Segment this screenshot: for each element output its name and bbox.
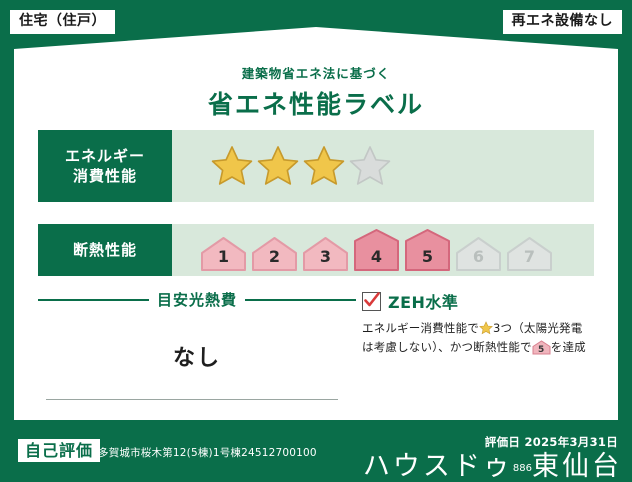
star-icon	[479, 321, 493, 335]
self-evaluation-badge: 自己評価	[18, 439, 100, 462]
watermark-tail: 東仙台	[532, 451, 622, 482]
utility-cost-divider	[46, 399, 338, 400]
zeh-block: ZEH水準 エネルギー消費性能で 3つ（太陽光発電 は考慮しない）、かつ断熱性能…	[356, 289, 594, 407]
insulation-label-text: 断熱性能	[73, 240, 137, 260]
insulation-performance-row: 断熱性能 1234567	[38, 224, 594, 276]
utility-cost-heading: 目安光熱費	[38, 289, 356, 310]
zeh-desc-part2: は考慮しない）、かつ断熱性能で	[362, 340, 532, 354]
star-rating	[210, 144, 392, 188]
insulation-level-7: 7	[506, 236, 553, 272]
insulation-level-number: 3	[302, 247, 349, 266]
insulation-level-5: 5	[404, 228, 451, 272]
star-filled-icon	[210, 144, 254, 188]
insulation-level-number: 6	[455, 247, 502, 266]
label-title-block: 建築物省エネ法に基づく 省エネ性能ラベル	[14, 63, 618, 121]
lower-section: 目安光熱費 なし ZEH水準	[38, 289, 594, 407]
insulation-level-6: 6	[455, 236, 502, 272]
zeh-desc-stars: 3つ（太陽光発電	[493, 321, 582, 335]
utility-cost-value: なし	[38, 340, 356, 372]
label-card: 建築物省エネ法に基づく 省エネ性能ラベル エネルギー 消費性能 断熱性能	[14, 27, 618, 420]
energy-label-root: 住宅（住戸） 再エネ設備なし 建築物省エネ法に基づく 省エネ性能ラベル エネルギ…	[0, 0, 632, 482]
tag-building-type: 住宅（住戸）	[10, 10, 115, 34]
label-subtitle: 建築物省エネ法に基づく	[14, 63, 618, 82]
zeh-description: エネルギー消費性能で 3つ（太陽光発電 は考慮しない）、かつ断熱性能で 5 を達…	[362, 319, 594, 357]
heading-rule-left	[38, 299, 149, 301]
insulation-level-number: 5	[404, 247, 451, 266]
property-id-text: 多賀城市桜木第12(5棟)1号棟24512700100	[98, 445, 317, 460]
energy-performance-row: エネルギー 消費性能	[38, 130, 594, 202]
watermark-small: 886	[513, 463, 532, 474]
zeh-desc-part1: エネルギー消費性能で	[362, 321, 479, 335]
evaluation-date: 評価日 2025年3月31日	[485, 434, 618, 450]
insulation-performance-value: 1234567	[172, 224, 594, 276]
watermark-main: ハウスドゥ	[363, 451, 513, 482]
energy-performance-value	[172, 130, 594, 202]
star-filled-icon	[302, 144, 346, 188]
heading-rule-right	[245, 299, 356, 301]
energy-performance-label: エネルギー 消費性能	[38, 130, 172, 202]
star-empty-icon	[348, 144, 392, 188]
insulation-scale: 1234567	[200, 228, 553, 272]
insulation-level-1: 1	[200, 236, 247, 272]
insulation-level-3: 3	[302, 236, 349, 272]
zeh-checkbox[interactable]	[362, 292, 381, 311]
energy-label-line2: 消費性能	[73, 166, 137, 186]
watermark-logo: ハウスドゥ886東仙台	[363, 453, 622, 480]
zeh-desc-part3: を達成	[551, 340, 586, 354]
insulation-performance-label: 断熱性能	[38, 224, 172, 276]
zeh-title: ZEH水準	[388, 289, 458, 313]
check-icon	[362, 290, 382, 310]
insulation-badge-icon: 5	[532, 340, 551, 355]
page-title: 省エネ性能ラベル	[14, 85, 618, 121]
insulation-level-4: 4	[353, 228, 400, 272]
insulation-level-number: 2	[251, 247, 298, 266]
insulation-level-number: 4	[353, 247, 400, 266]
label-footer: 自己評価 多賀城市桜木第12(5棟)1号棟24512700100 評価日 202…	[0, 420, 632, 482]
zeh-heading: ZEH水準	[362, 289, 594, 313]
energy-label-line1: エネルギー	[65, 146, 145, 166]
star-filled-icon	[256, 144, 300, 188]
utility-cost-block: 目安光熱費 なし	[38, 289, 356, 407]
utility-cost-heading-text: 目安光熱費	[157, 289, 237, 310]
insulation-level-2: 2	[251, 236, 298, 272]
insulation-level-number: 7	[506, 247, 553, 266]
insulation-badge-number: 5	[532, 346, 551, 355]
tag-renewable-equipment: 再エネ設備なし	[503, 10, 623, 34]
insulation-level-number: 1	[200, 247, 247, 266]
